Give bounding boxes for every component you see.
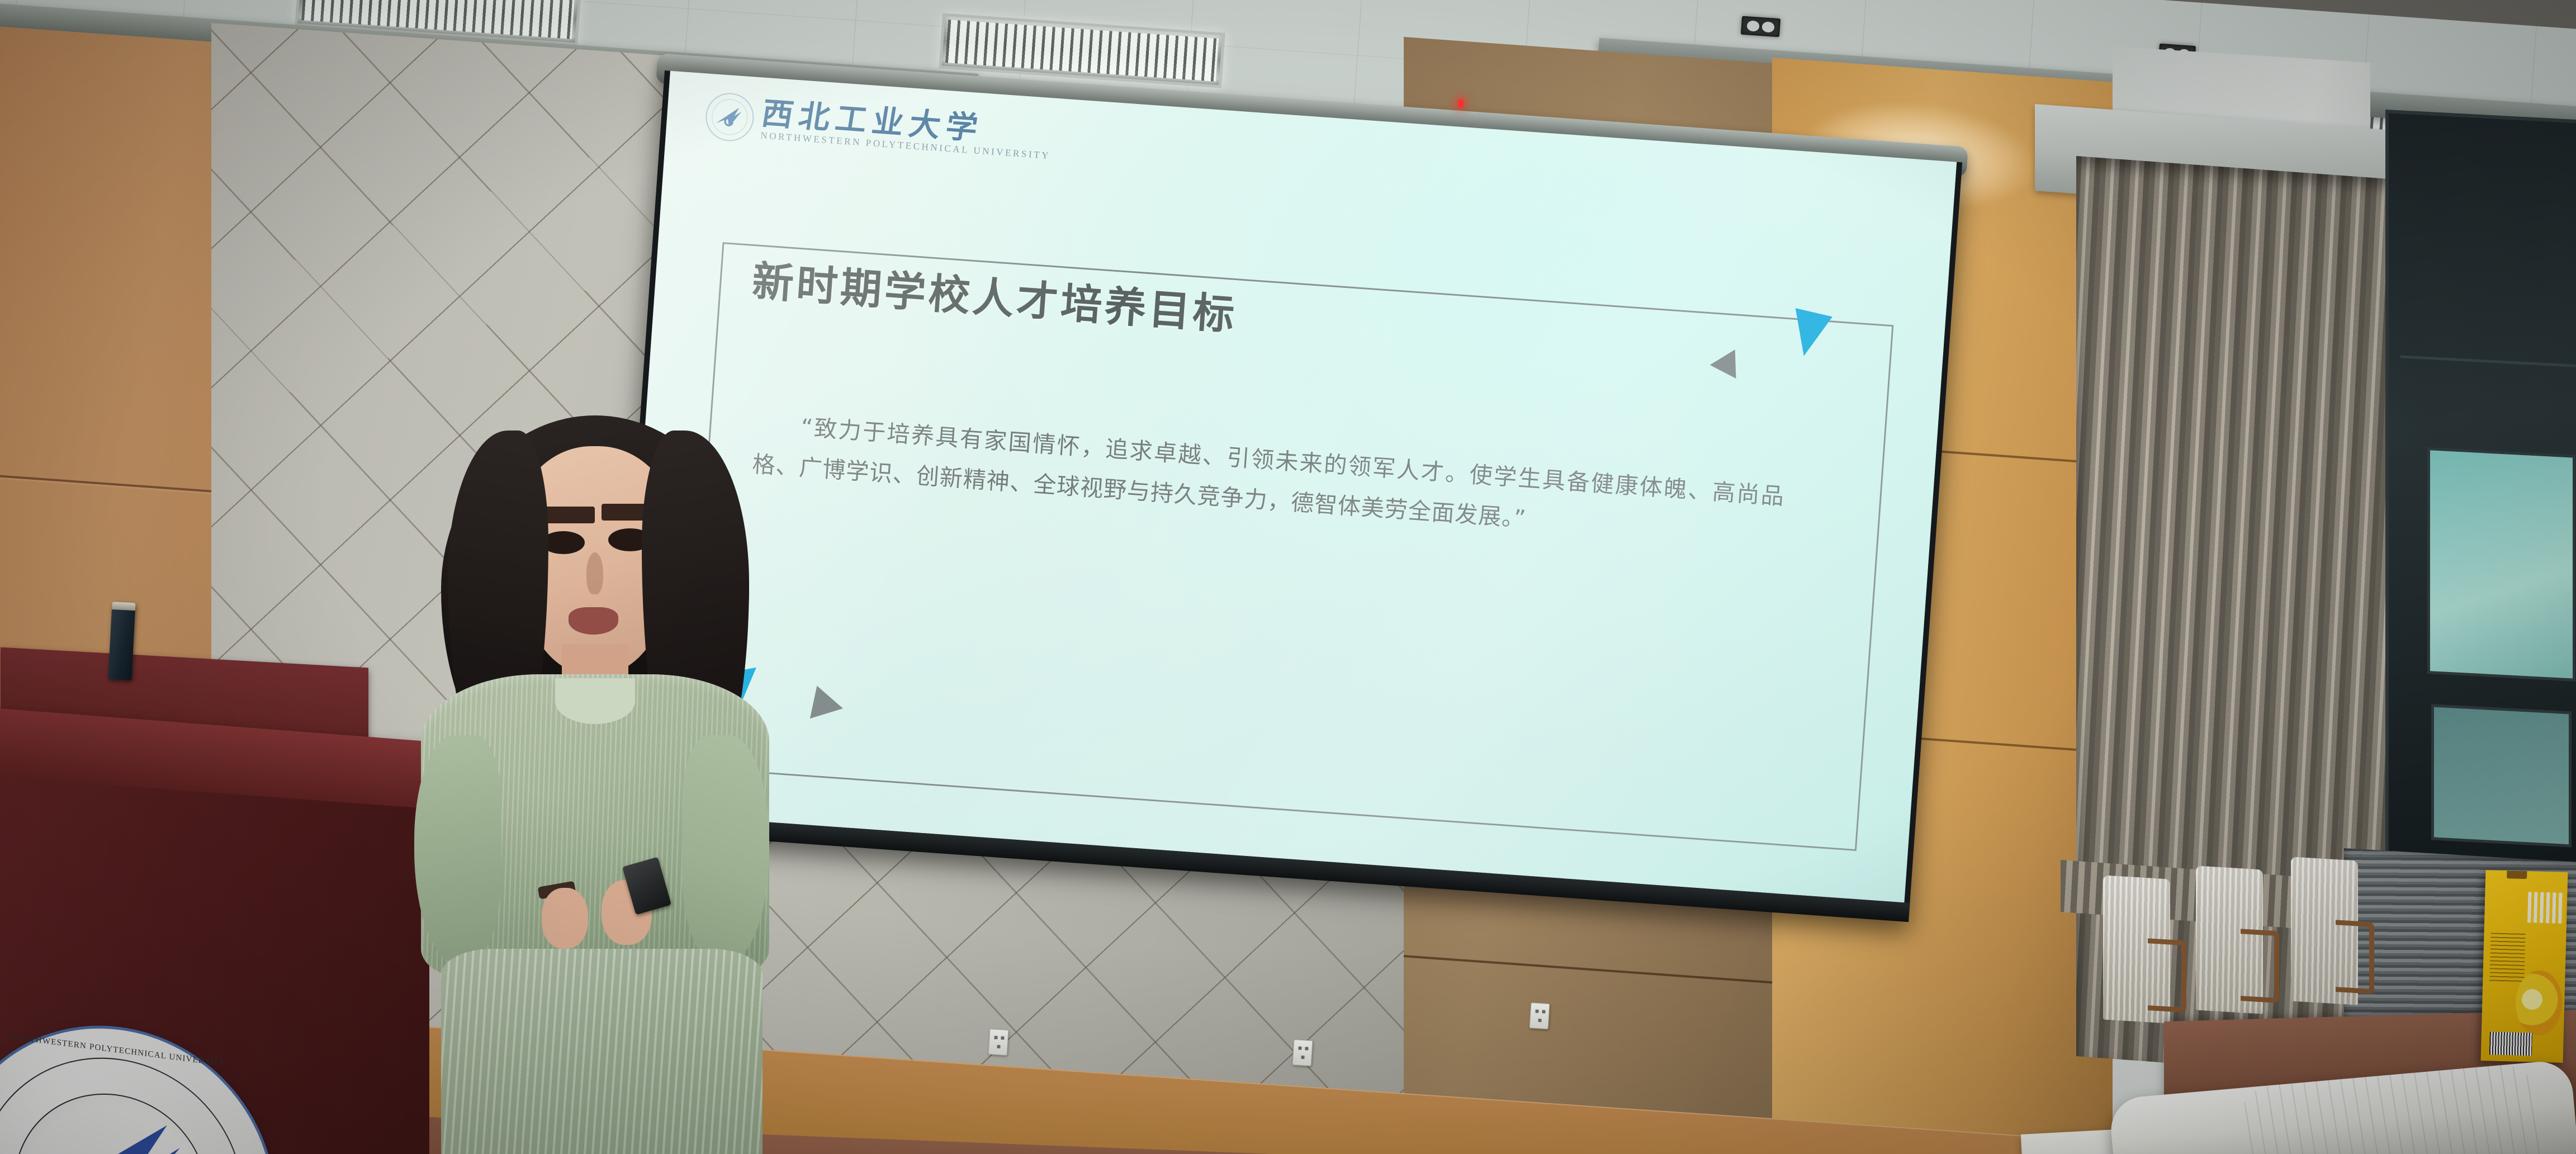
chair-armrest [2336, 920, 2375, 994]
thermos-flask[interactable] [108, 602, 135, 680]
chair[interactable] [2285, 856, 2365, 1005]
carton-label-text [2489, 933, 2525, 983]
screen-frame: 西北工业大学 NORTHWESTERN POLYTECHNICAL UNIVER… [611, 70, 1962, 922]
chair[interactable] [2097, 874, 2177, 1023]
carton-brand-mark [2527, 892, 2564, 924]
slide-logo: 西北工业大学 NORTHWESTERN POLYTECHNICAL UNIVER… [704, 91, 1053, 164]
chair-armrest [2148, 938, 2186, 1013]
chair[interactable] [2190, 865, 2270, 1014]
presenter-collar [555, 678, 636, 724]
university-emblem: NORTHWESTERN POLYTECHNICAL UNIVERSITY 19… [0, 1010, 281, 1154]
presenter [428, 415, 763, 1154]
presenter-left-hand [542, 888, 589, 949]
carton-cap-icon [2507, 870, 2527, 879]
presenter-skirt [441, 949, 763, 1154]
lecture-hall-photo: 西北工业大学 NORTHWESTERN POLYTECHNICAL UNIVER… [0, 0, 2576, 1154]
wall-outlet[interactable] [988, 1029, 1009, 1056]
lectern-body: NORTHWESTERN POLYTECHNICAL UNIVERSITY 19… [0, 773, 430, 1154]
projection-screen[interactable]: 西北工业大学 NORTHWESTERN POLYTECHNICAL UNIVER… [611, 70, 1962, 922]
outlet-slots-icon [1535, 1009, 1538, 1013]
triangle-top-right-gray-icon [1709, 349, 1736, 380]
chair-armrest [2241, 929, 2279, 1004]
outlet-slots-icon [994, 1035, 997, 1039]
outlet-slots-icon [1298, 1046, 1301, 1049]
lectern[interactable]: NORTHWESTERN POLYTECHNICAL UNIVERSITY 19… [0, 658, 412, 1154]
triangle-bottom-left-gray-icon [809, 686, 846, 725]
presenter-right-arm [682, 735, 769, 964]
window-frame [2385, 110, 2576, 882]
npu-seal-icon [704, 91, 756, 143]
wall-outlet[interactable] [1292, 1039, 1313, 1066]
presenter-left-arm [414, 735, 501, 964]
roller-status-led [1458, 99, 1464, 107]
window-pane-lower [2431, 704, 2571, 848]
window-mullion [2400, 356, 2576, 368]
carton-lemon-icon [2515, 970, 2563, 1036]
carton-barcode [2489, 1032, 2533, 1056]
slide-canvas: 西北工业大学 NORTHWESTERN POLYTECHNICAL UNIVER… [618, 71, 1957, 903]
juice-carton[interactable] [2481, 870, 2568, 1062]
slide-logo-text: 西北工业大学 NORTHWESTERN POLYTECHNICAL UNIVER… [760, 97, 1053, 162]
presenter-nose [586, 552, 603, 594]
wall-outlet[interactable] [1529, 1002, 1550, 1029]
window-pane [2427, 447, 2575, 682]
smoke-detector [1741, 16, 1781, 37]
